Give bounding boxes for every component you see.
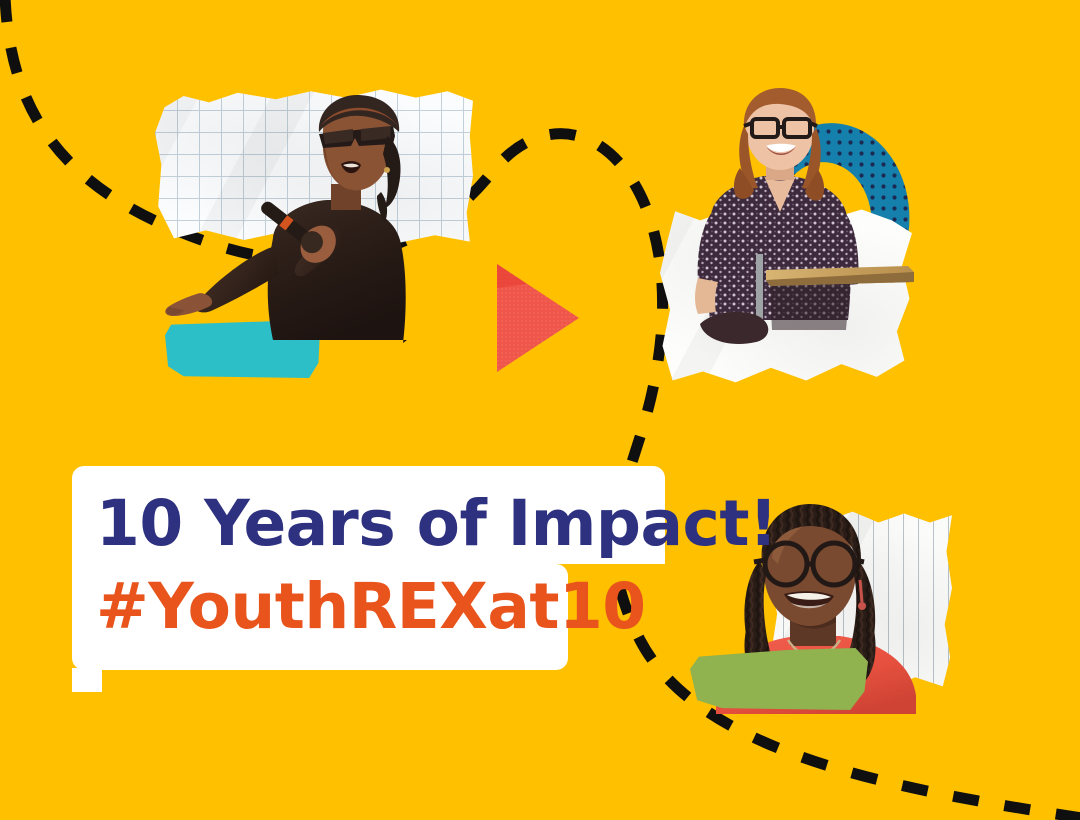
headline-row-secondary: #YouthREXat10 xyxy=(72,564,568,670)
green-accent-block xyxy=(690,648,868,710)
singer-figure xyxy=(155,88,485,378)
speaker-figure xyxy=(660,86,920,388)
headline-row-primary: 10 Years of Impact! xyxy=(72,466,665,564)
page-title: 10 Years of Impact! xyxy=(72,484,665,564)
campaign-hashtag: #YouthREXat10 xyxy=(72,564,568,650)
photo-singer xyxy=(155,88,485,378)
poster-canvas: 10 Years of Impact! #YouthREXat10 xyxy=(0,0,1080,820)
play-triangle-icon xyxy=(497,264,579,372)
headline-corner-notch xyxy=(72,668,102,692)
headline-card: 10 Years of Impact! #YouthREXat10 xyxy=(72,466,665,670)
photo-speaker-podium xyxy=(660,86,920,388)
